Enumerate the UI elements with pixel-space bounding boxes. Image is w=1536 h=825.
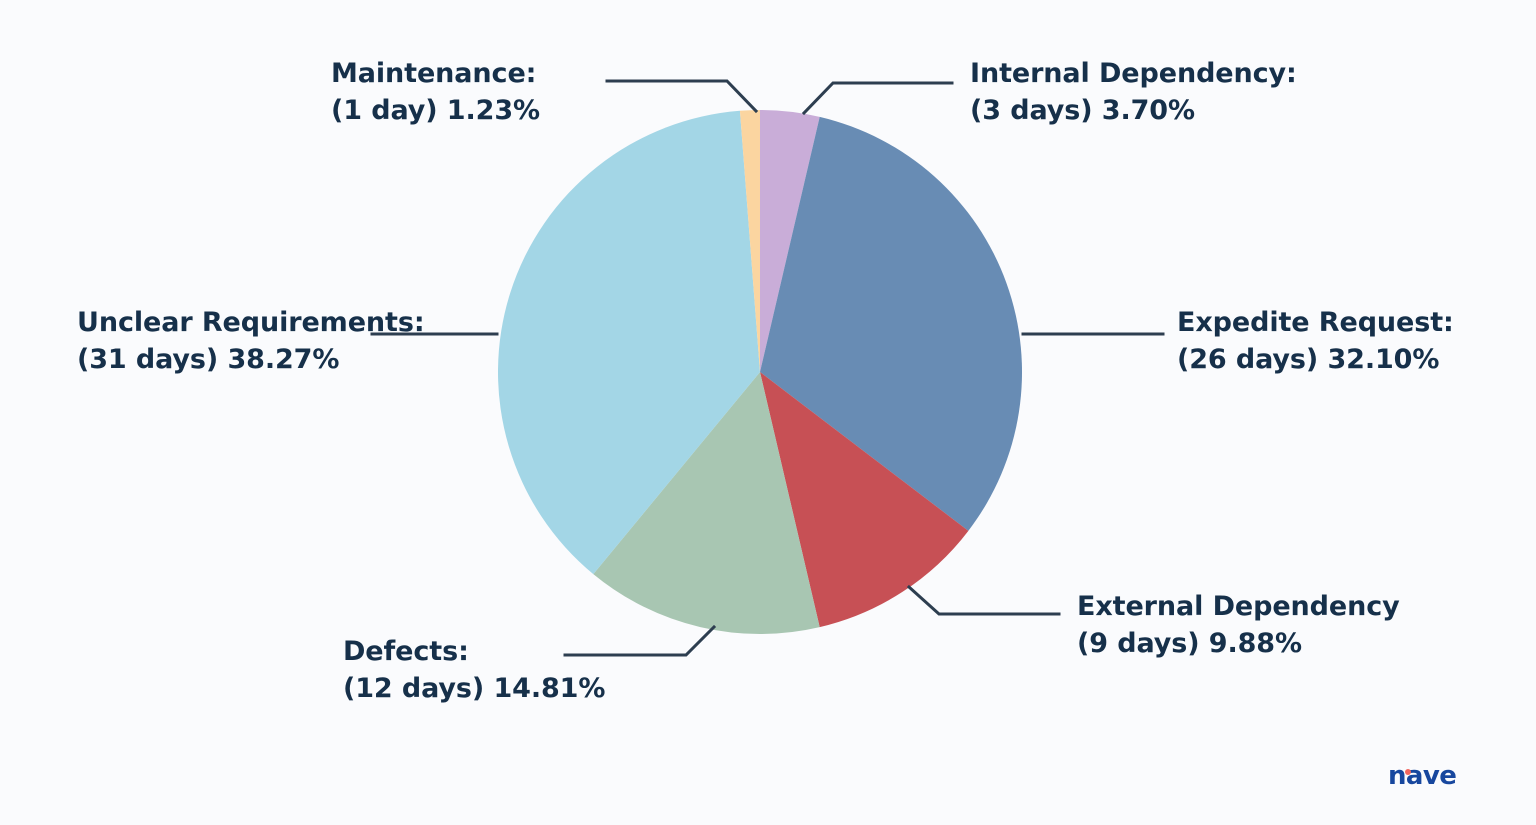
pie-slices bbox=[498, 110, 1022, 634]
pie-label-defects-name: Defects: bbox=[343, 634, 605, 671]
pie-label-internal-dependency: Internal Dependency: (3 days) 3.70% bbox=[970, 56, 1297, 129]
pie-label-expedite-request-name: Expedite Request: bbox=[1177, 305, 1454, 342]
pie-label-defects: Defects: (12 days) 14.81% bbox=[343, 634, 605, 707]
pie-label-maintenance-name: Maintenance: bbox=[331, 56, 540, 93]
pie-label-unclear-requirements-name: Unclear Requirements: bbox=[77, 305, 425, 342]
pie-label-external-dependency: External Dependency (9 days) 9.88% bbox=[1077, 589, 1400, 662]
leader-line-internal-dependency bbox=[804, 83, 952, 113]
pie-label-internal-dependency-name: Internal Dependency: bbox=[970, 56, 1297, 93]
chart-canvas: Maintenance: (1 day) 1.23% Internal Depe… bbox=[0, 0, 1536, 825]
pie-label-internal-dependency-value: (3 days) 3.70% bbox=[970, 93, 1297, 130]
nave-logo-dot bbox=[1405, 769, 1411, 775]
leader-line-external-dependency bbox=[909, 587, 1059, 614]
pie-label-unclear-requirements: Unclear Requirements: (31 days) 38.27% bbox=[77, 305, 425, 378]
pie-label-external-dependency-value: (9 days) 9.88% bbox=[1077, 626, 1400, 663]
leader-line-maintenance bbox=[607, 81, 756, 111]
pie-label-defects-value: (12 days) 14.81% bbox=[343, 671, 605, 708]
pie-label-maintenance: Maintenance: (1 day) 1.23% bbox=[331, 56, 540, 129]
pie-label-expedite-request: Expedite Request: (26 days) 32.10% bbox=[1177, 305, 1454, 378]
pie-label-expedite-request-value: (26 days) 32.10% bbox=[1177, 342, 1454, 379]
pie-label-unclear-requirements-value: (31 days) 38.27% bbox=[77, 342, 425, 379]
nave-logo: nave bbox=[1388, 762, 1450, 790]
pie-chart-svg bbox=[0, 0, 1536, 825]
pie-label-maintenance-value: (1 day) 1.23% bbox=[331, 93, 540, 130]
pie-label-external-dependency-name: External Dependency bbox=[1077, 589, 1400, 626]
nave-wordmark: nave bbox=[1388, 761, 1456, 791]
